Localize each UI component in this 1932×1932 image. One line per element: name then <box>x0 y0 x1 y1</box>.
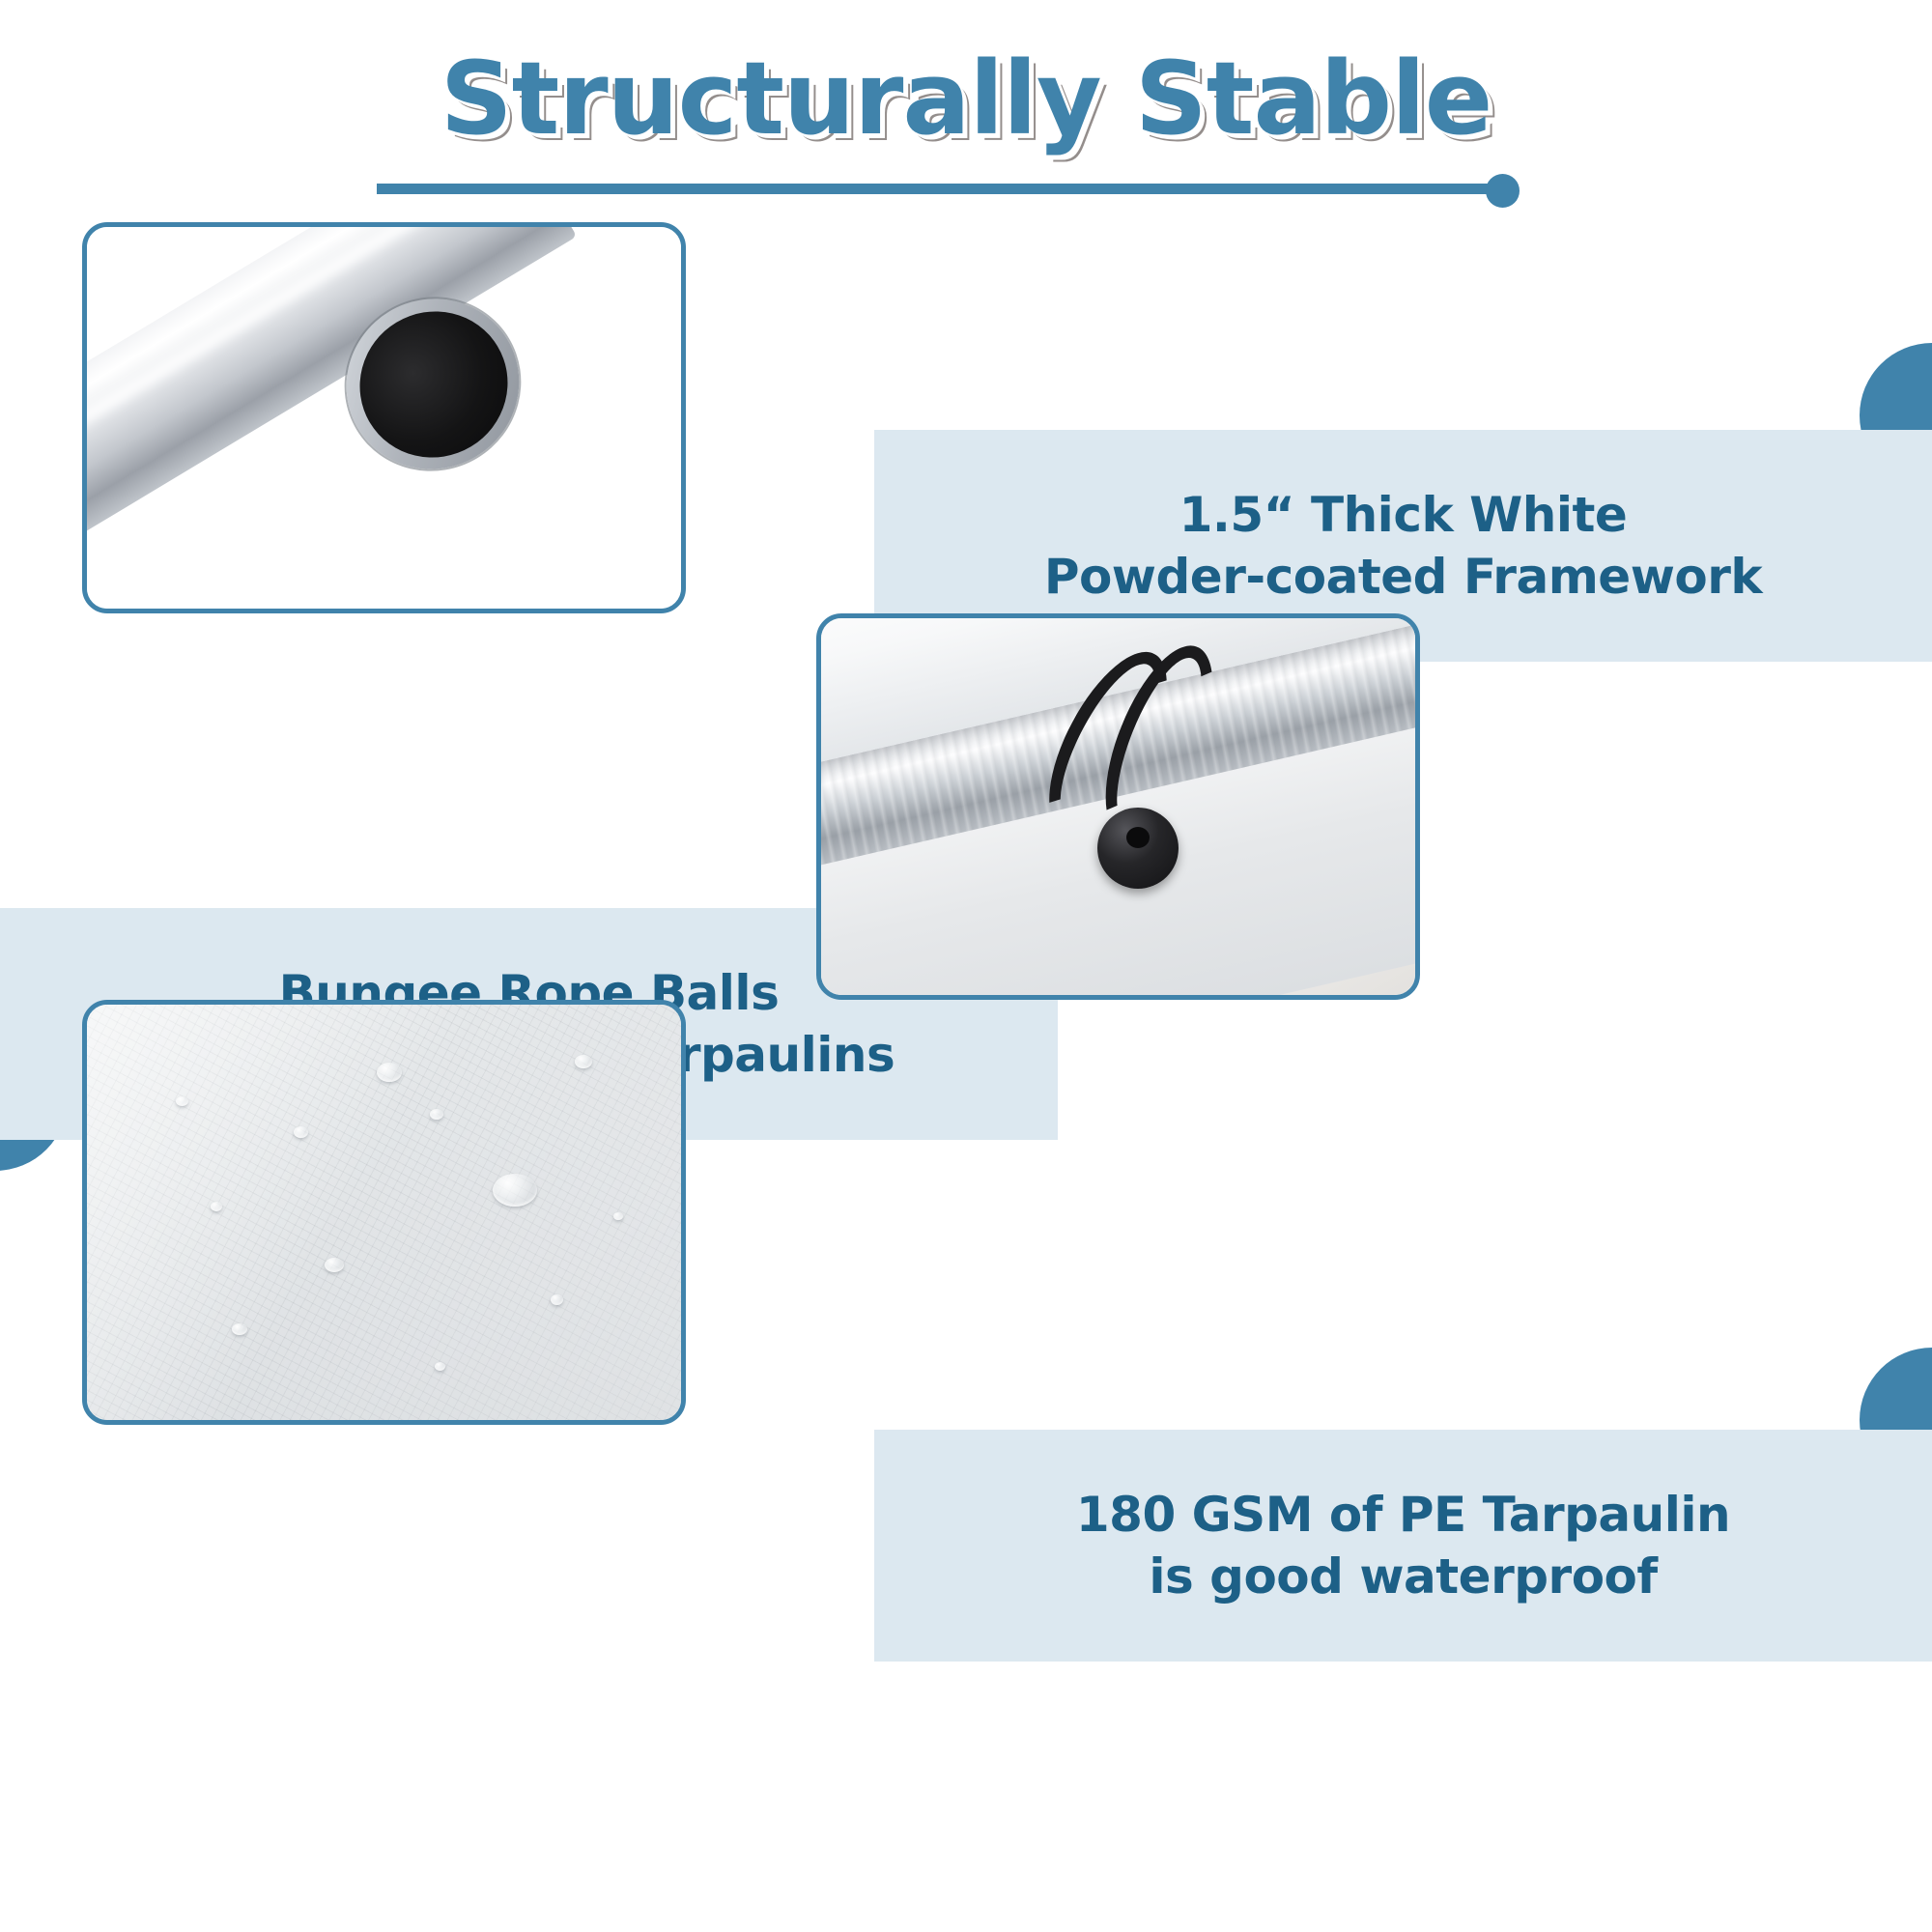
feature-band-tarpaulin: 180 GSM of PE Tarpaulin is good waterpro… <box>874 1430 1932 1662</box>
water-droplet <box>613 1212 623 1220</box>
tarpaulin-photo-content <box>87 1005 681 1420</box>
water-droplet <box>294 1126 308 1138</box>
feature-caption-framework: 1.5“ Thick White Powder-coated Framework <box>1006 484 1801 608</box>
water-droplet <box>435 1362 445 1371</box>
water-droplet <box>211 1202 222 1211</box>
bungee-rope-ball-hole <box>1126 827 1150 848</box>
feature-caption-tarpaulin: 180 GSM of PE Tarpaulin is good waterpro… <box>1037 1484 1769 1607</box>
page-title-text: Structurally Stable <box>440 46 1492 152</box>
feature-image-tarpaulin <box>82 1000 686 1425</box>
bungee-photo-content <box>821 618 1415 995</box>
water-droplet <box>325 1258 344 1272</box>
water-droplet <box>232 1323 247 1335</box>
bungee-rope-ball <box>1097 808 1179 889</box>
infographic-page: Structurally Stable 1.5“ Thick White Pow… <box>0 0 1932 1932</box>
water-droplet <box>377 1063 402 1082</box>
water-droplet <box>430 1109 443 1120</box>
water-droplet <box>575 1055 592 1068</box>
feature-image-framework <box>82 222 686 613</box>
framework-photo-content <box>87 227 681 609</box>
water-droplet <box>176 1096 188 1106</box>
title-underline-dot-icon <box>1486 174 1520 208</box>
title-underline-rule <box>377 184 1502 194</box>
water-droplet <box>551 1294 563 1305</box>
feature-image-bungee <box>816 613 1420 1000</box>
water-droplet <box>493 1174 537 1207</box>
page-title: Structurally Stable <box>0 46 1932 152</box>
